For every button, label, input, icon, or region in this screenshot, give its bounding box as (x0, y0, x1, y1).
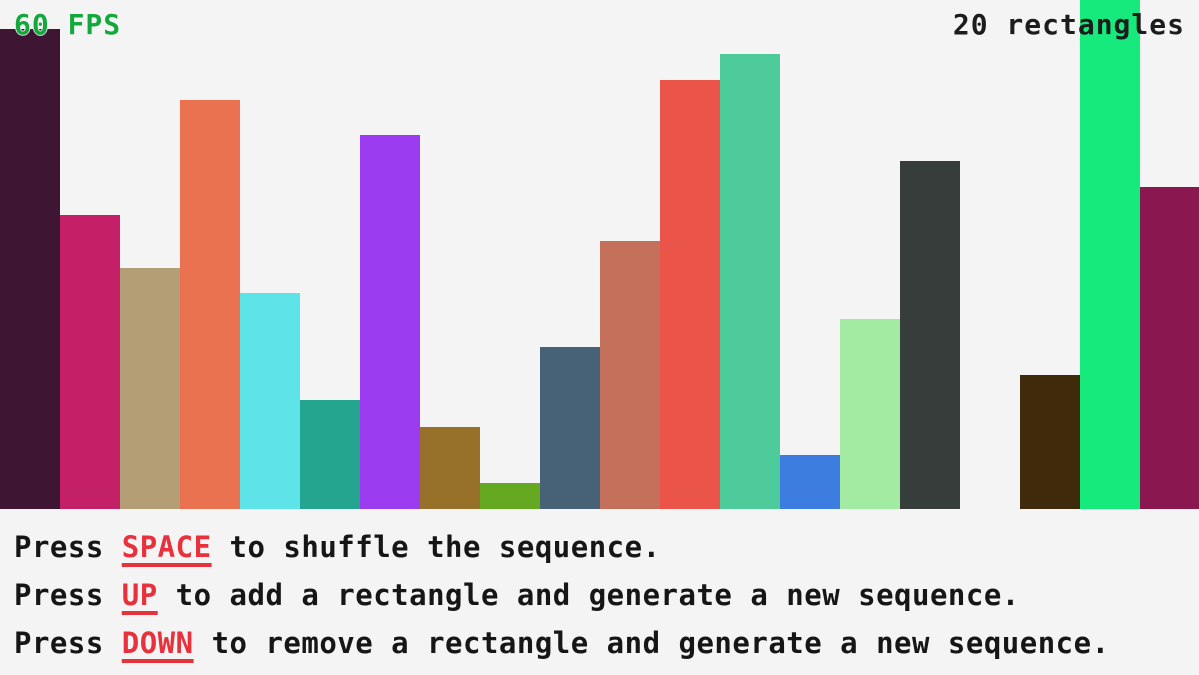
bar-rectangle (300, 400, 360, 509)
instruction-prefix: Press (14, 578, 122, 612)
bar-rectangle (1140, 187, 1199, 509)
bar-rectangle (1080, 0, 1140, 509)
bar-rectangle (1020, 375, 1080, 509)
instruction-suffix: to shuffle the sequence. (212, 530, 661, 564)
bar-rectangle (360, 135, 420, 509)
instruction-suffix: to remove a rectangle and generate a new… (194, 626, 1110, 660)
bar-rectangle (900, 161, 960, 509)
app-root: 60 FPS 20 rectangles Press SPACE to shuf… (0, 0, 1199, 675)
bar-rectangle (540, 347, 600, 509)
bar-rectangle (180, 100, 240, 509)
bar-rectangle (420, 427, 480, 509)
instructions-panel: Press SPACE to shuffle the sequence.Pres… (0, 509, 1199, 675)
bar-rectangle (240, 293, 300, 509)
bar-chart-canvas[interactable] (0, 0, 1199, 509)
instruction-prefix: Press (14, 530, 122, 564)
bar-rectangle (60, 215, 120, 509)
instruction-line-1: Press SPACE to shuffle the sequence. (14, 523, 1199, 571)
bar-rectangle (780, 455, 840, 509)
rectangle-count-label: 20 rectangles (953, 10, 1185, 40)
key-hint-space[interactable]: SPACE (122, 530, 212, 564)
key-hint-up[interactable]: UP (122, 578, 158, 612)
instruction-line-2: Press UP to add a rectangle and generate… (14, 571, 1199, 619)
bar-rectangle (480, 483, 540, 509)
instruction-prefix: Press (14, 626, 122, 660)
key-hint-down[interactable]: DOWN (122, 626, 194, 660)
bar-rectangle (840, 319, 900, 509)
bar-rectangle (660, 80, 720, 509)
bar-rectangle (600, 241, 660, 509)
instruction-suffix: to add a rectangle and generate a new se… (158, 578, 1020, 612)
bar-rectangle (0, 29, 60, 509)
bar-rectangle (720, 54, 780, 509)
fps-counter: 60 FPS (14, 10, 121, 40)
instruction-line-3: Press DOWN to remove a rectangle and gen… (14, 619, 1199, 667)
bar-rectangle (120, 268, 180, 509)
